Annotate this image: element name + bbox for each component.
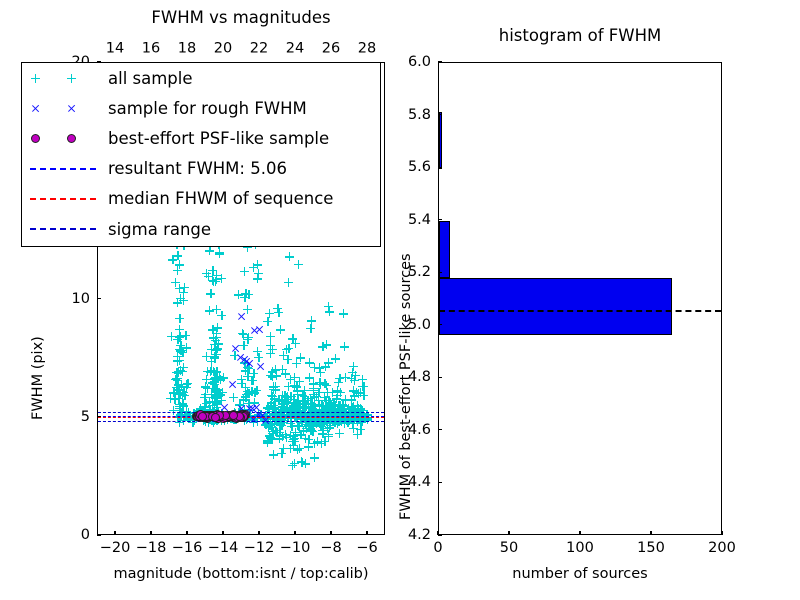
scatter-point-all-sample xyxy=(169,388,178,397)
scatter-point-all-sample xyxy=(173,374,182,383)
scatter-point-all-sample xyxy=(358,382,367,391)
scatter-point-all-sample xyxy=(285,252,294,261)
scatter-point-all-sample xyxy=(266,421,275,430)
scatter-point-all-sample xyxy=(230,351,239,360)
scatter-point-all-sample xyxy=(174,368,183,377)
scatter-point-all-sample xyxy=(176,294,185,303)
scatter-point-all-sample xyxy=(206,289,215,298)
scatter-point-all-sample xyxy=(212,329,221,338)
scatter-point-all-sample xyxy=(177,380,186,389)
scatter-point-all-sample xyxy=(278,402,287,411)
histogram-x-tick xyxy=(650,531,651,535)
scatter-point-all-sample xyxy=(271,385,280,394)
scatter-point-all-sample xyxy=(317,401,326,410)
histogram-y-tick-label: 5.8 xyxy=(408,107,431,122)
scatter-point-all-sample xyxy=(177,380,186,389)
scatter-point-all-sample xyxy=(268,429,277,438)
scatter-point-all-sample xyxy=(274,395,283,404)
scatter-point-all-sample xyxy=(307,426,316,435)
scatter-point-all-sample xyxy=(173,356,182,365)
scatter-point-all-sample xyxy=(179,288,188,297)
scatter-point-all-sample xyxy=(212,333,221,342)
histogram-x-tick-label: 150 xyxy=(637,541,665,556)
histogram-y-tick xyxy=(438,482,442,483)
bottom-axis-tick xyxy=(366,531,367,535)
scatter-point-all-sample xyxy=(283,399,292,408)
scatter-point-all-sample xyxy=(333,387,342,396)
scatter-point-rough-fwhm xyxy=(236,353,245,362)
scatter-point-all-sample xyxy=(168,255,177,264)
scatter-point-all-sample xyxy=(237,379,246,388)
scatter-point-all-sample xyxy=(284,344,293,353)
scatter-point-all-sample xyxy=(181,331,190,340)
scatter-point-all-sample xyxy=(267,398,276,407)
scatter-point-all-sample xyxy=(244,290,253,299)
scatter-point-all-sample xyxy=(208,276,217,285)
scatter-point-all-sample xyxy=(263,418,272,427)
scatter-point-all-sample xyxy=(272,428,281,437)
scatter-point-all-sample xyxy=(244,399,253,408)
scatter-point-all-sample xyxy=(175,402,184,411)
scatter-point-all-sample xyxy=(212,305,221,314)
scatter-point-all-sample xyxy=(175,406,184,415)
scatter-point-all-sample xyxy=(207,366,216,375)
scatter-point-all-sample xyxy=(290,373,299,382)
bottom-axis-tick-label: −20 xyxy=(100,541,131,556)
scatter-point-all-sample xyxy=(307,316,316,325)
scatter-point-all-sample xyxy=(269,450,278,459)
scatter-point-all-sample xyxy=(180,283,189,292)
scatter-point-all-sample xyxy=(175,345,184,354)
scatter-point-all-sample xyxy=(349,362,358,371)
scatter-point-all-sample xyxy=(200,402,209,411)
scatter-point-all-sample xyxy=(290,434,299,443)
scatter-point-all-sample xyxy=(283,355,292,364)
scatter-point-all-sample xyxy=(356,425,365,434)
scatter-point-all-sample xyxy=(329,400,338,409)
legend-item-label: resultant FWHM: 5.06 xyxy=(108,159,287,178)
scatter-point-all-sample xyxy=(212,398,221,407)
histogram-x-tick-label: 50 xyxy=(500,541,518,556)
scatter-point-all-sample xyxy=(279,444,288,453)
scatter-point-all-sample xyxy=(211,392,220,401)
scatter-point-all-sample xyxy=(208,398,217,407)
scatter-point-all-sample xyxy=(324,432,333,441)
scatter-point-all-sample xyxy=(324,430,333,439)
scatter-point-all-sample xyxy=(201,390,210,399)
scatter-point-all-sample xyxy=(304,400,313,409)
scatter-point-rough-fwhm xyxy=(231,344,240,353)
scatter-point-all-sample xyxy=(267,391,276,400)
bottom-axis-tick xyxy=(222,531,223,535)
scatter-point-all-sample xyxy=(290,406,299,415)
legend-dashdot-blue-line xyxy=(30,228,96,230)
scatter-point-rough-fwhm xyxy=(237,312,246,321)
scatter-point-all-sample xyxy=(213,323,222,332)
bottom-axis-tick xyxy=(330,531,331,535)
scatter-point-all-sample xyxy=(278,432,287,441)
scatter-point-all-sample xyxy=(293,390,302,399)
scatter-point-all-sample xyxy=(210,380,219,389)
scatter-point-all-sample xyxy=(323,417,332,426)
scatter-point-all-sample xyxy=(297,418,306,427)
scatter-point-all-sample xyxy=(309,384,318,393)
legend-item[interactable]: sigma range xyxy=(22,214,380,244)
scatter-point-rough-fwhm xyxy=(256,362,265,371)
scatter-point-all-sample xyxy=(272,371,281,380)
scatter-point-all-sample xyxy=(291,428,300,437)
scatter-point-all-sample xyxy=(292,400,301,409)
scatter-point-all-sample xyxy=(269,385,278,394)
scatter-point-all-sample xyxy=(278,365,287,374)
scatter-point-all-sample xyxy=(211,277,220,286)
histogram-y-tick xyxy=(438,377,442,378)
scatter-point-all-sample xyxy=(178,348,187,357)
scatter-point-all-sample xyxy=(323,388,332,397)
scatter-point-all-sample xyxy=(252,386,261,395)
scatter-point-rough-fwhm xyxy=(250,326,259,335)
scatter-point-all-sample xyxy=(173,298,182,307)
legend-dashed-red-line xyxy=(30,198,96,200)
scatter-point-all-sample xyxy=(298,400,307,409)
scatter-point-all-sample xyxy=(244,364,253,373)
histogram-y-tick xyxy=(438,272,442,273)
scatter-point-all-sample xyxy=(210,354,219,363)
histogram-title: histogram of FWHM xyxy=(499,26,662,45)
scatter-point-all-sample xyxy=(314,396,323,405)
scatter-point-all-sample xyxy=(309,402,318,411)
legend-key xyxy=(22,184,108,214)
scatter-point-all-sample xyxy=(313,437,322,446)
scatter-point-all-sample xyxy=(241,289,250,298)
scatter-point-all-sample xyxy=(210,377,219,386)
scatter-point-all-sample xyxy=(167,332,176,341)
scatter-point-all-sample xyxy=(266,341,275,350)
scatter-point-all-sample xyxy=(182,380,191,389)
scatter-point-all-sample xyxy=(288,461,297,470)
scatter-point-all-sample xyxy=(269,427,278,436)
scatter-point-all-sample xyxy=(212,346,221,355)
scatter-point-all-sample xyxy=(325,399,334,408)
legend-circle-marker xyxy=(67,134,76,143)
scatter-point-all-sample xyxy=(285,405,294,414)
scatter-point-all-sample xyxy=(301,402,310,411)
bottom-axis-tick xyxy=(150,531,151,535)
scatter-point-rough-fwhm xyxy=(252,403,261,412)
scatter-point-all-sample xyxy=(175,418,184,427)
top-axis-tick-label: 22 xyxy=(250,42,268,57)
scatter-point-all-sample xyxy=(213,385,222,394)
sigma-range-lower-line xyxy=(98,421,384,422)
scatter-point-all-sample xyxy=(348,368,357,377)
scatter-point-all-sample xyxy=(254,353,263,362)
scatter-point-all-sample xyxy=(177,382,186,391)
scatter-point-all-sample xyxy=(176,366,185,375)
scatter-point-all-sample xyxy=(326,400,335,409)
scatter-point-all-sample xyxy=(265,309,274,318)
scatter-point-all-sample xyxy=(318,342,327,351)
scatter-point-all-sample xyxy=(293,386,302,395)
scatter-point-all-sample xyxy=(290,437,299,446)
bottom-axis-tick-label: −6 xyxy=(356,541,377,556)
scatter-point-all-sample xyxy=(183,379,192,388)
scatter-point-all-sample xyxy=(264,421,273,430)
scatter-point-all-sample xyxy=(179,363,188,372)
histogram-y-tick xyxy=(438,167,442,168)
scatter-point-all-sample xyxy=(249,369,258,378)
scatter-point-all-sample xyxy=(266,349,275,358)
scatter-point-all-sample xyxy=(317,422,326,431)
scatter-point-all-sample xyxy=(286,375,295,384)
scatter-point-all-sample xyxy=(291,401,300,410)
scatter-point-all-sample xyxy=(326,421,335,430)
scatter-point-all-sample xyxy=(268,367,277,376)
scatter-point-all-sample xyxy=(172,383,181,392)
scatter-point-all-sample xyxy=(295,377,304,386)
scatter-point-all-sample xyxy=(239,341,248,350)
scatter-point-all-sample xyxy=(178,367,187,376)
scatter-point-all-sample xyxy=(280,391,289,400)
scatter-point-all-sample xyxy=(318,406,327,415)
scatter-point-all-sample xyxy=(335,374,344,383)
scatter-point-all-sample xyxy=(178,390,187,399)
scatter-point-all-sample xyxy=(321,396,330,405)
scatter-point-all-sample xyxy=(173,383,182,392)
scatter-point-all-sample xyxy=(174,367,183,376)
scatter-point-all-sample xyxy=(266,401,275,410)
scatter-point-all-sample xyxy=(299,426,308,435)
scatter-point-all-sample xyxy=(335,401,344,410)
scatter-point-all-sample xyxy=(171,278,180,287)
scatter-point-all-sample xyxy=(240,358,249,367)
scatter-point-all-sample xyxy=(306,394,315,403)
scatter-point-all-sample xyxy=(291,400,300,409)
scatter-point-all-sample xyxy=(253,260,262,269)
scatter-point-all-sample xyxy=(214,389,223,398)
scatter-point-all-sample xyxy=(316,421,325,430)
scatter-point-all-sample xyxy=(215,248,224,257)
scatter-point-all-sample xyxy=(294,422,303,431)
bottom-axis-tick xyxy=(114,531,115,535)
scatter-point-all-sample xyxy=(206,367,215,376)
scatter-point-all-sample xyxy=(281,393,290,402)
scatter-point-all-sample xyxy=(271,365,280,374)
scatter-point-all-sample xyxy=(298,396,307,405)
scatter-point-all-sample xyxy=(247,387,256,396)
scatter-point-all-sample xyxy=(336,388,345,397)
scatter-point-all-sample xyxy=(274,308,283,317)
scatter-point-all-sample xyxy=(174,394,183,403)
legend-box: all samplesample for rough FWHMbest-effo… xyxy=(21,62,381,247)
scatter-point-all-sample xyxy=(359,382,368,391)
bottom-axis-tick xyxy=(294,531,295,535)
scatter-point-all-sample xyxy=(243,335,252,344)
scatter-point-all-sample xyxy=(241,366,250,375)
legend-item[interactable]: sample for rough FWHM xyxy=(22,93,380,123)
scatter-point-all-sample xyxy=(347,374,356,383)
scatter-point-all-sample xyxy=(351,371,360,380)
scatter-point-all-sample xyxy=(282,345,291,354)
scatter-point-all-sample xyxy=(179,401,188,410)
legend-item-label: best-effort PSF-like sample xyxy=(108,129,329,148)
scatter-point-all-sample xyxy=(325,398,334,407)
scatter-point-all-sample xyxy=(314,388,323,397)
scatter-point-all-sample xyxy=(179,296,188,305)
histogram-y-axis-label: FWHM of best-effort PSF-like sources xyxy=(398,253,414,520)
figure-canvas: FWHM vs magnitudes 1416182022242628 −20−… xyxy=(0,0,800,600)
scatter-point-all-sample xyxy=(188,418,197,427)
scatter-point-all-sample xyxy=(202,269,211,278)
scatter-point-all-sample xyxy=(322,381,331,390)
scatter-point-all-sample xyxy=(240,293,249,302)
scatter-point-all-sample xyxy=(305,358,314,367)
scatter-point-all-sample xyxy=(208,401,217,410)
scatter-point-all-sample xyxy=(250,398,259,407)
scatter-point-all-sample xyxy=(175,386,184,395)
scatter-y-tick xyxy=(97,298,101,299)
scatter-point-all-sample xyxy=(279,351,288,360)
scatter-point-all-sample xyxy=(217,311,226,320)
scatter-point-all-sample xyxy=(277,449,286,458)
scatter-point-all-sample xyxy=(201,382,210,391)
scatter-point-all-sample xyxy=(175,314,184,323)
scatter-point-all-sample xyxy=(241,392,250,401)
scatter-point-all-sample xyxy=(309,379,318,388)
scatter-point-all-sample xyxy=(326,402,335,411)
histogram-x-tick-label: 200 xyxy=(708,541,736,556)
scatter-y-tick-label: 0 xyxy=(81,528,90,543)
scatter-point-all-sample xyxy=(278,403,287,412)
bottom-axis-tick-label: −16 xyxy=(172,541,203,556)
scatter-point-all-sample xyxy=(304,442,313,451)
scatter-point-all-sample xyxy=(263,317,272,326)
scatter-point-all-sample xyxy=(306,426,315,435)
scatter-point-all-sample xyxy=(278,406,287,415)
scatter-point-all-sample xyxy=(294,260,303,269)
scatter-point-all-sample xyxy=(299,397,308,406)
scatter-point-all-sample xyxy=(338,406,347,415)
scatter-point-all-sample xyxy=(213,400,222,409)
legend-key xyxy=(22,154,108,184)
scatter-point-all-sample xyxy=(290,398,299,407)
scatter-point-all-sample xyxy=(248,376,257,385)
scatter-point-all-sample xyxy=(265,431,274,440)
scatter-y-tick-label: 10 xyxy=(72,291,90,306)
scatter-point-all-sample xyxy=(338,405,347,414)
scatter-point-all-sample xyxy=(239,395,248,404)
scatter-point-all-sample xyxy=(249,263,258,272)
scatter-y-tick-label: 5 xyxy=(81,410,90,425)
scatter-point-all-sample xyxy=(173,357,182,366)
top-axis-tick-label: 26 xyxy=(322,42,340,57)
legend-item[interactable]: resultant FWHM: 5.06 xyxy=(22,154,380,184)
scatter-point-all-sample xyxy=(244,333,253,342)
scatter-point-all-sample xyxy=(290,401,299,410)
scatter-point-all-sample xyxy=(333,386,342,395)
scatter-point-all-sample xyxy=(289,432,298,441)
scatter-point-all-sample xyxy=(263,438,272,447)
scatter-point-all-sample xyxy=(280,391,289,400)
histogram-bar xyxy=(439,112,442,168)
legend-cross-marker xyxy=(67,104,76,113)
scatter-point-all-sample xyxy=(211,385,220,394)
scatter-point-all-sample xyxy=(300,392,309,401)
scatter-point-all-sample xyxy=(284,382,293,391)
scatter-point-all-sample xyxy=(210,368,219,377)
scatter-point-rough-fwhm xyxy=(255,325,264,334)
scatter-point-all-sample xyxy=(210,384,219,393)
bottom-axis-tick xyxy=(258,531,259,535)
scatter-point-all-sample xyxy=(339,309,348,318)
scatter-point-all-sample xyxy=(347,403,356,412)
legend-item[interactable]: best-effort PSF-like sample xyxy=(22,123,380,153)
histogram-y-tick-label: 5.4 xyxy=(408,212,431,227)
scatter-point-all-sample xyxy=(208,266,217,275)
scatter-point-all-sample xyxy=(302,424,311,433)
scatter-plot-title: FWHM vs magnitudes xyxy=(151,8,330,27)
scatter-point-all-sample xyxy=(307,399,316,408)
legend-item-label: sample for rough FWHM xyxy=(108,99,307,118)
legend-plus-marker xyxy=(67,74,76,83)
scatter-point-all-sample xyxy=(278,391,287,400)
scatter-point-all-sample xyxy=(306,424,315,433)
scatter-point-all-sample xyxy=(212,392,221,401)
scatter-point-all-sample xyxy=(170,395,179,404)
scatter-point-all-sample xyxy=(317,439,326,448)
top-axis-tick-label: 16 xyxy=(142,42,160,57)
scatter-point-all-sample xyxy=(343,418,352,427)
scatter-point-all-sample xyxy=(318,402,327,411)
scatter-point-all-sample xyxy=(287,392,296,401)
scatter-point-all-sample xyxy=(283,395,292,404)
scatter-point-all-sample xyxy=(265,421,274,430)
scatter-point-all-sample xyxy=(269,382,278,391)
scatter-point-all-sample xyxy=(275,431,284,440)
histogram-axes xyxy=(438,62,722,535)
scatter-point-all-sample xyxy=(329,401,338,410)
scatter-point-all-sample xyxy=(200,393,209,402)
scatter-point-all-sample xyxy=(286,392,295,401)
scatter-point-all-sample xyxy=(243,372,252,381)
scatter-point-all-sample xyxy=(307,399,316,408)
scatter-point-all-sample xyxy=(316,380,325,389)
scatter-point-all-sample xyxy=(205,405,214,414)
scatter-point-all-sample xyxy=(268,423,277,432)
scatter-point-all-sample xyxy=(214,339,223,348)
legend-item[interactable]: median FHWM of sequence xyxy=(22,184,380,214)
legend-item[interactable]: all sample xyxy=(22,63,380,93)
scatter-point-all-sample xyxy=(358,375,367,384)
scatter-point-all-sample xyxy=(234,290,243,299)
scatter-point-all-sample xyxy=(301,434,310,443)
scatter-point-all-sample xyxy=(315,400,324,409)
legend-item-label: all sample xyxy=(108,69,193,88)
scatter-point-all-sample xyxy=(215,388,224,397)
histogram-y-tick-label: 4.2 xyxy=(408,528,431,543)
scatter-point-all-sample xyxy=(284,278,293,287)
scatter-point-all-sample xyxy=(266,332,275,341)
scatter-point-all-sample xyxy=(324,396,333,405)
scatter-point-all-sample xyxy=(341,373,350,382)
scatter-point-all-sample xyxy=(339,402,348,411)
scatter-point-all-sample xyxy=(305,373,314,382)
scatter-point-all-sample xyxy=(318,426,327,435)
scatter-point-all-sample xyxy=(175,333,184,342)
scatter-point-all-sample xyxy=(210,374,219,383)
top-axis-tick-label: 24 xyxy=(286,42,304,57)
scatter-point-all-sample xyxy=(349,386,358,395)
scatter-point-all-sample xyxy=(215,249,224,258)
